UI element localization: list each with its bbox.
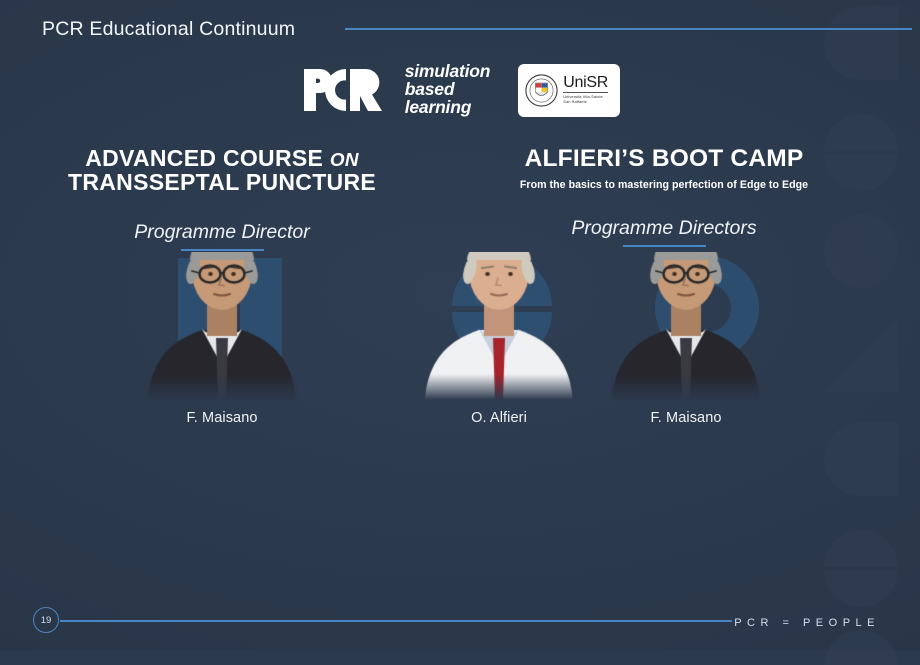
role-label-left: Programme Director: [134, 221, 310, 244]
course-title-right-line1: ALFIERI’S BOOT CAMP: [525, 145, 804, 172]
people-row: F. Maisano O. Alfieri F. Maisano: [0, 252, 920, 437]
unisr-subtitle-line2: San Raffaele: [563, 100, 608, 105]
avatar: [424, 252, 574, 400]
header-divider: [345, 28, 912, 30]
role-label-right: Programme Directors: [571, 217, 756, 240]
person-card: F. Maisano: [611, 252, 761, 426]
pcr-logo: simulation based learning: [300, 62, 491, 118]
person-card: O. Alfieri: [424, 252, 574, 426]
watermark-glyph: [810, 510, 920, 614]
slide-canvas: PCR Educational Continuum simulation bas…: [0, 0, 920, 651]
person-name: F. Maisano: [147, 410, 297, 426]
role-block-left: Programme Director: [20, 221, 424, 251]
course-subtitle-right: From the basics to mastering perfection …: [424, 179, 904, 191]
person-name: F. Maisano: [611, 410, 761, 426]
pcr-tagline: simulation based learning: [405, 62, 491, 118]
person-name: O. Alfieri: [424, 410, 574, 426]
person-card: F. Maisano: [147, 252, 297, 426]
avatar: [611, 252, 761, 400]
unisr-text: UniSR Università Vita-Salute San Raffael…: [563, 75, 608, 105]
role-underline-left: [181, 249, 264, 251]
course-title-left-italic: ON: [330, 149, 359, 170]
university-crest-icon: [525, 74, 558, 107]
footer-divider: [60, 620, 732, 622]
course-title-left-line1: ADVANCED COURSE: [85, 145, 323, 171]
role-underline-right: [623, 245, 706, 247]
avatar: [147, 252, 297, 400]
course-title-left-line2: TRANSSEPTAL PUNCTURE: [68, 169, 376, 195]
pcr-wordmark-icon: [300, 67, 396, 113]
footer-brand: PCR = PEOPLE: [734, 617, 880, 629]
course-column-right: ALFIERI’S BOOT CAMP From the basics to m…: [424, 146, 904, 247]
logo-row: simulation based learning UniSR: [0, 62, 920, 118]
unisr-name: UniSR: [563, 75, 608, 93]
page-number-badge: 19: [33, 607, 59, 633]
pcr-tagline-line2: based: [405, 80, 491, 98]
course-title-right: ALFIERI’S BOOT CAMP: [424, 146, 904, 172]
unisr-logo: UniSR Università Vita-Salute San Raffael…: [518, 64, 620, 117]
page-title: PCR Educational Continuum: [42, 18, 295, 41]
course-title-left: ADVANCED COURSE ON TRANSSEPTAL PUNCTURE: [20, 146, 424, 195]
pcr-tagline-line3: learning: [405, 98, 491, 116]
role-block-right: Programme Directors: [424, 217, 904, 247]
pcr-tagline-line1: simulation: [405, 62, 491, 80]
unisr-subtitle: Università Vita-Salute San Raffaele: [563, 95, 608, 105]
course-column-left: ADVANCED COURSE ON TRANSSEPTAL PUNCTURE …: [20, 146, 424, 251]
